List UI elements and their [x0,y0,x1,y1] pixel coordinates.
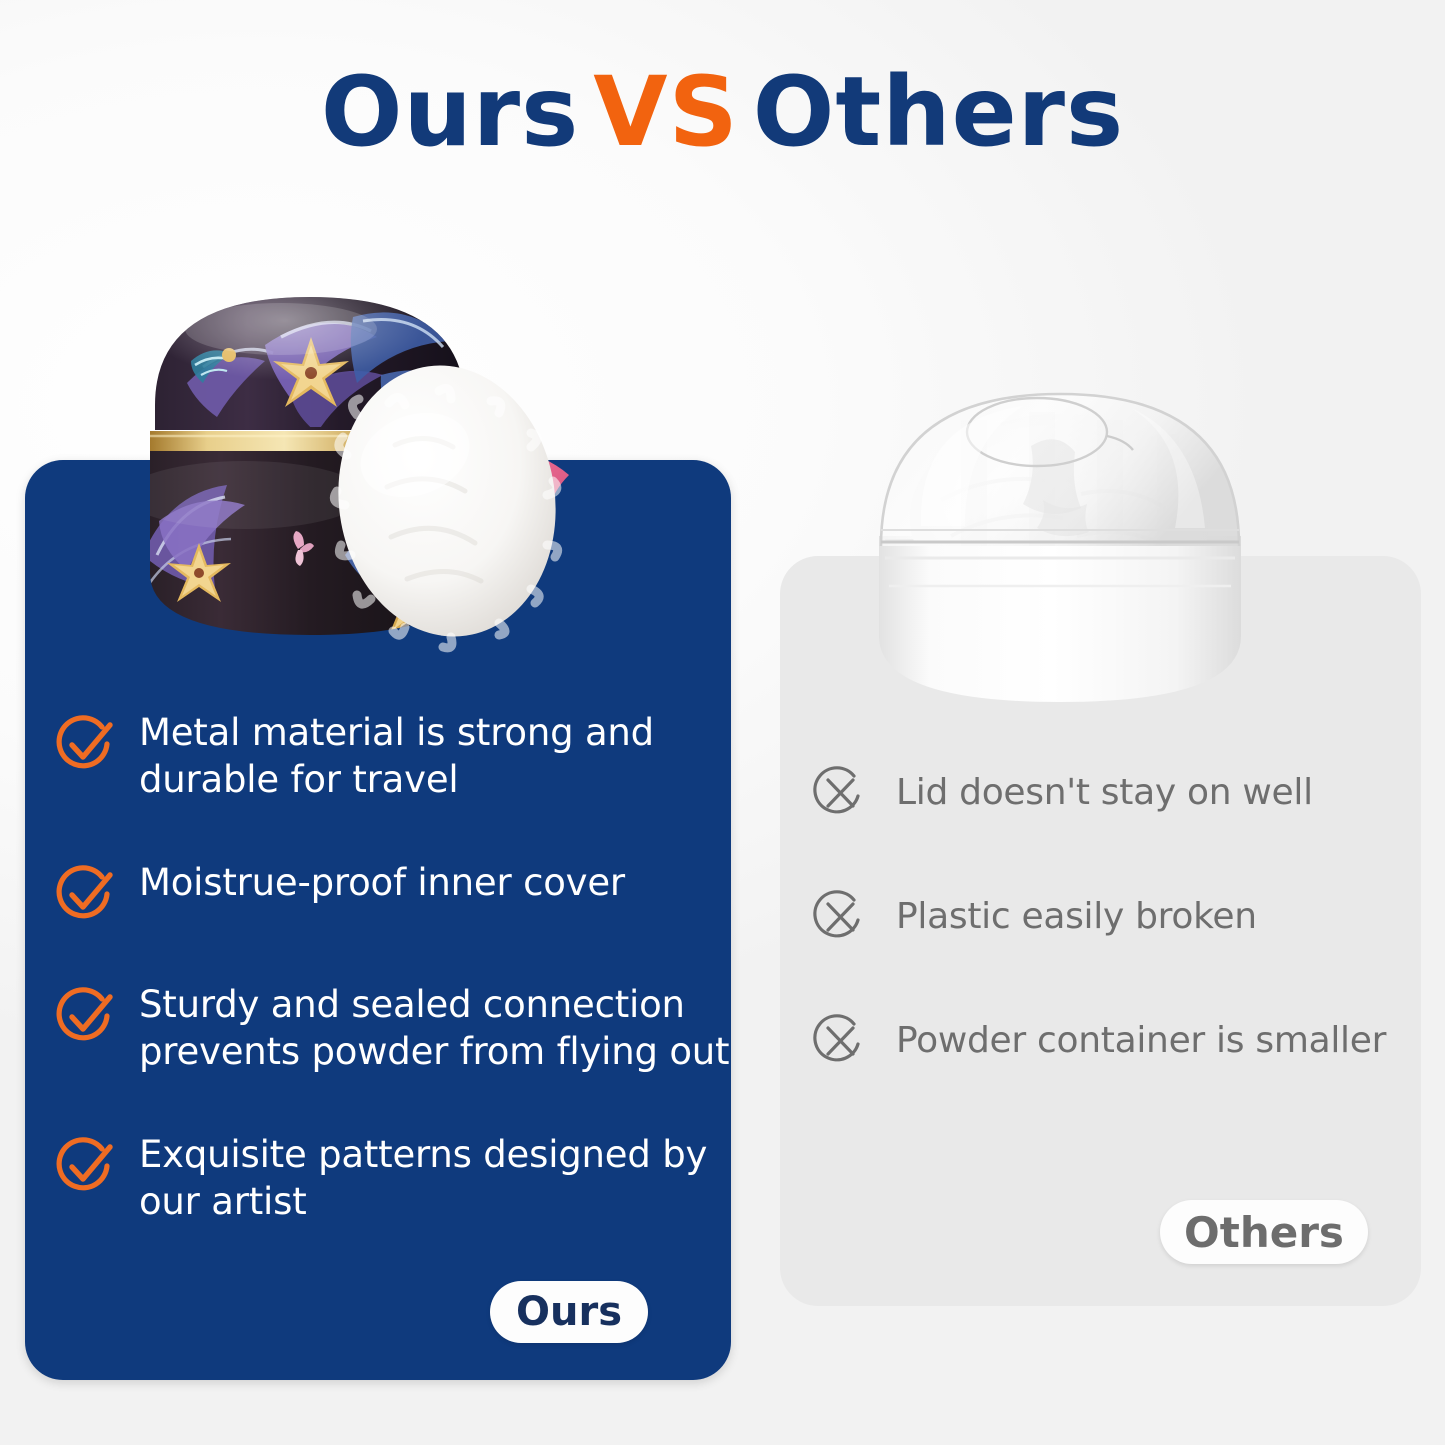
list-item: Lid doesn't stay on well [812,765,1412,821]
x-circle-icon [812,765,868,821]
others-badge-label: Others [1184,1208,1344,1257]
list-item: Metal material is strong and durable for… [55,710,735,804]
ours-badge: Ours [490,1281,648,1343]
x-circle-icon [812,889,868,945]
list-item-label: Lid doesn't stay on well [896,771,1313,814]
others-product-image [845,350,1275,730]
ours-feature-list: Metal material is strong and durable for… [55,710,735,1226]
list-item: Exquisite patterns designed by our artis… [55,1132,735,1226]
check-circle-icon [55,986,117,1048]
ours-product-image [95,255,695,675]
list-item-label: Powder container is smaller [896,1019,1386,1062]
list-item-label: Sturdy and sealed connection prevents po… [139,982,735,1076]
check-circle-icon [55,1136,117,1198]
list-item-label: Exquisite patterns designed by our artis… [139,1132,735,1226]
ours-badge-label: Ours [516,1289,622,1335]
title-word-others: Others [753,56,1124,168]
check-circle-icon [55,714,117,776]
list-item-label: Plastic easily broken [896,895,1257,938]
list-item: Plastic easily broken [812,889,1412,945]
list-item: Sturdy and sealed connection prevents po… [55,982,735,1076]
title-word-vs: VS [579,56,752,168]
list-item: Moistrue-proof inner cover [55,860,735,926]
check-circle-icon [55,864,117,926]
list-item-label: Moistrue-proof inner cover [139,860,625,907]
list-item-label: Metal material is strong and durable for… [139,710,735,804]
page-title: OursVSOthers [0,62,1445,163]
others-badge: Others [1160,1200,1368,1264]
others-feature-list: Lid doesn't stay on well Plastic easily … [812,765,1412,1069]
x-circle-icon [812,1013,868,1069]
title-word-ours: Ours [321,56,579,168]
list-item: Powder container is smaller [812,1013,1412,1069]
